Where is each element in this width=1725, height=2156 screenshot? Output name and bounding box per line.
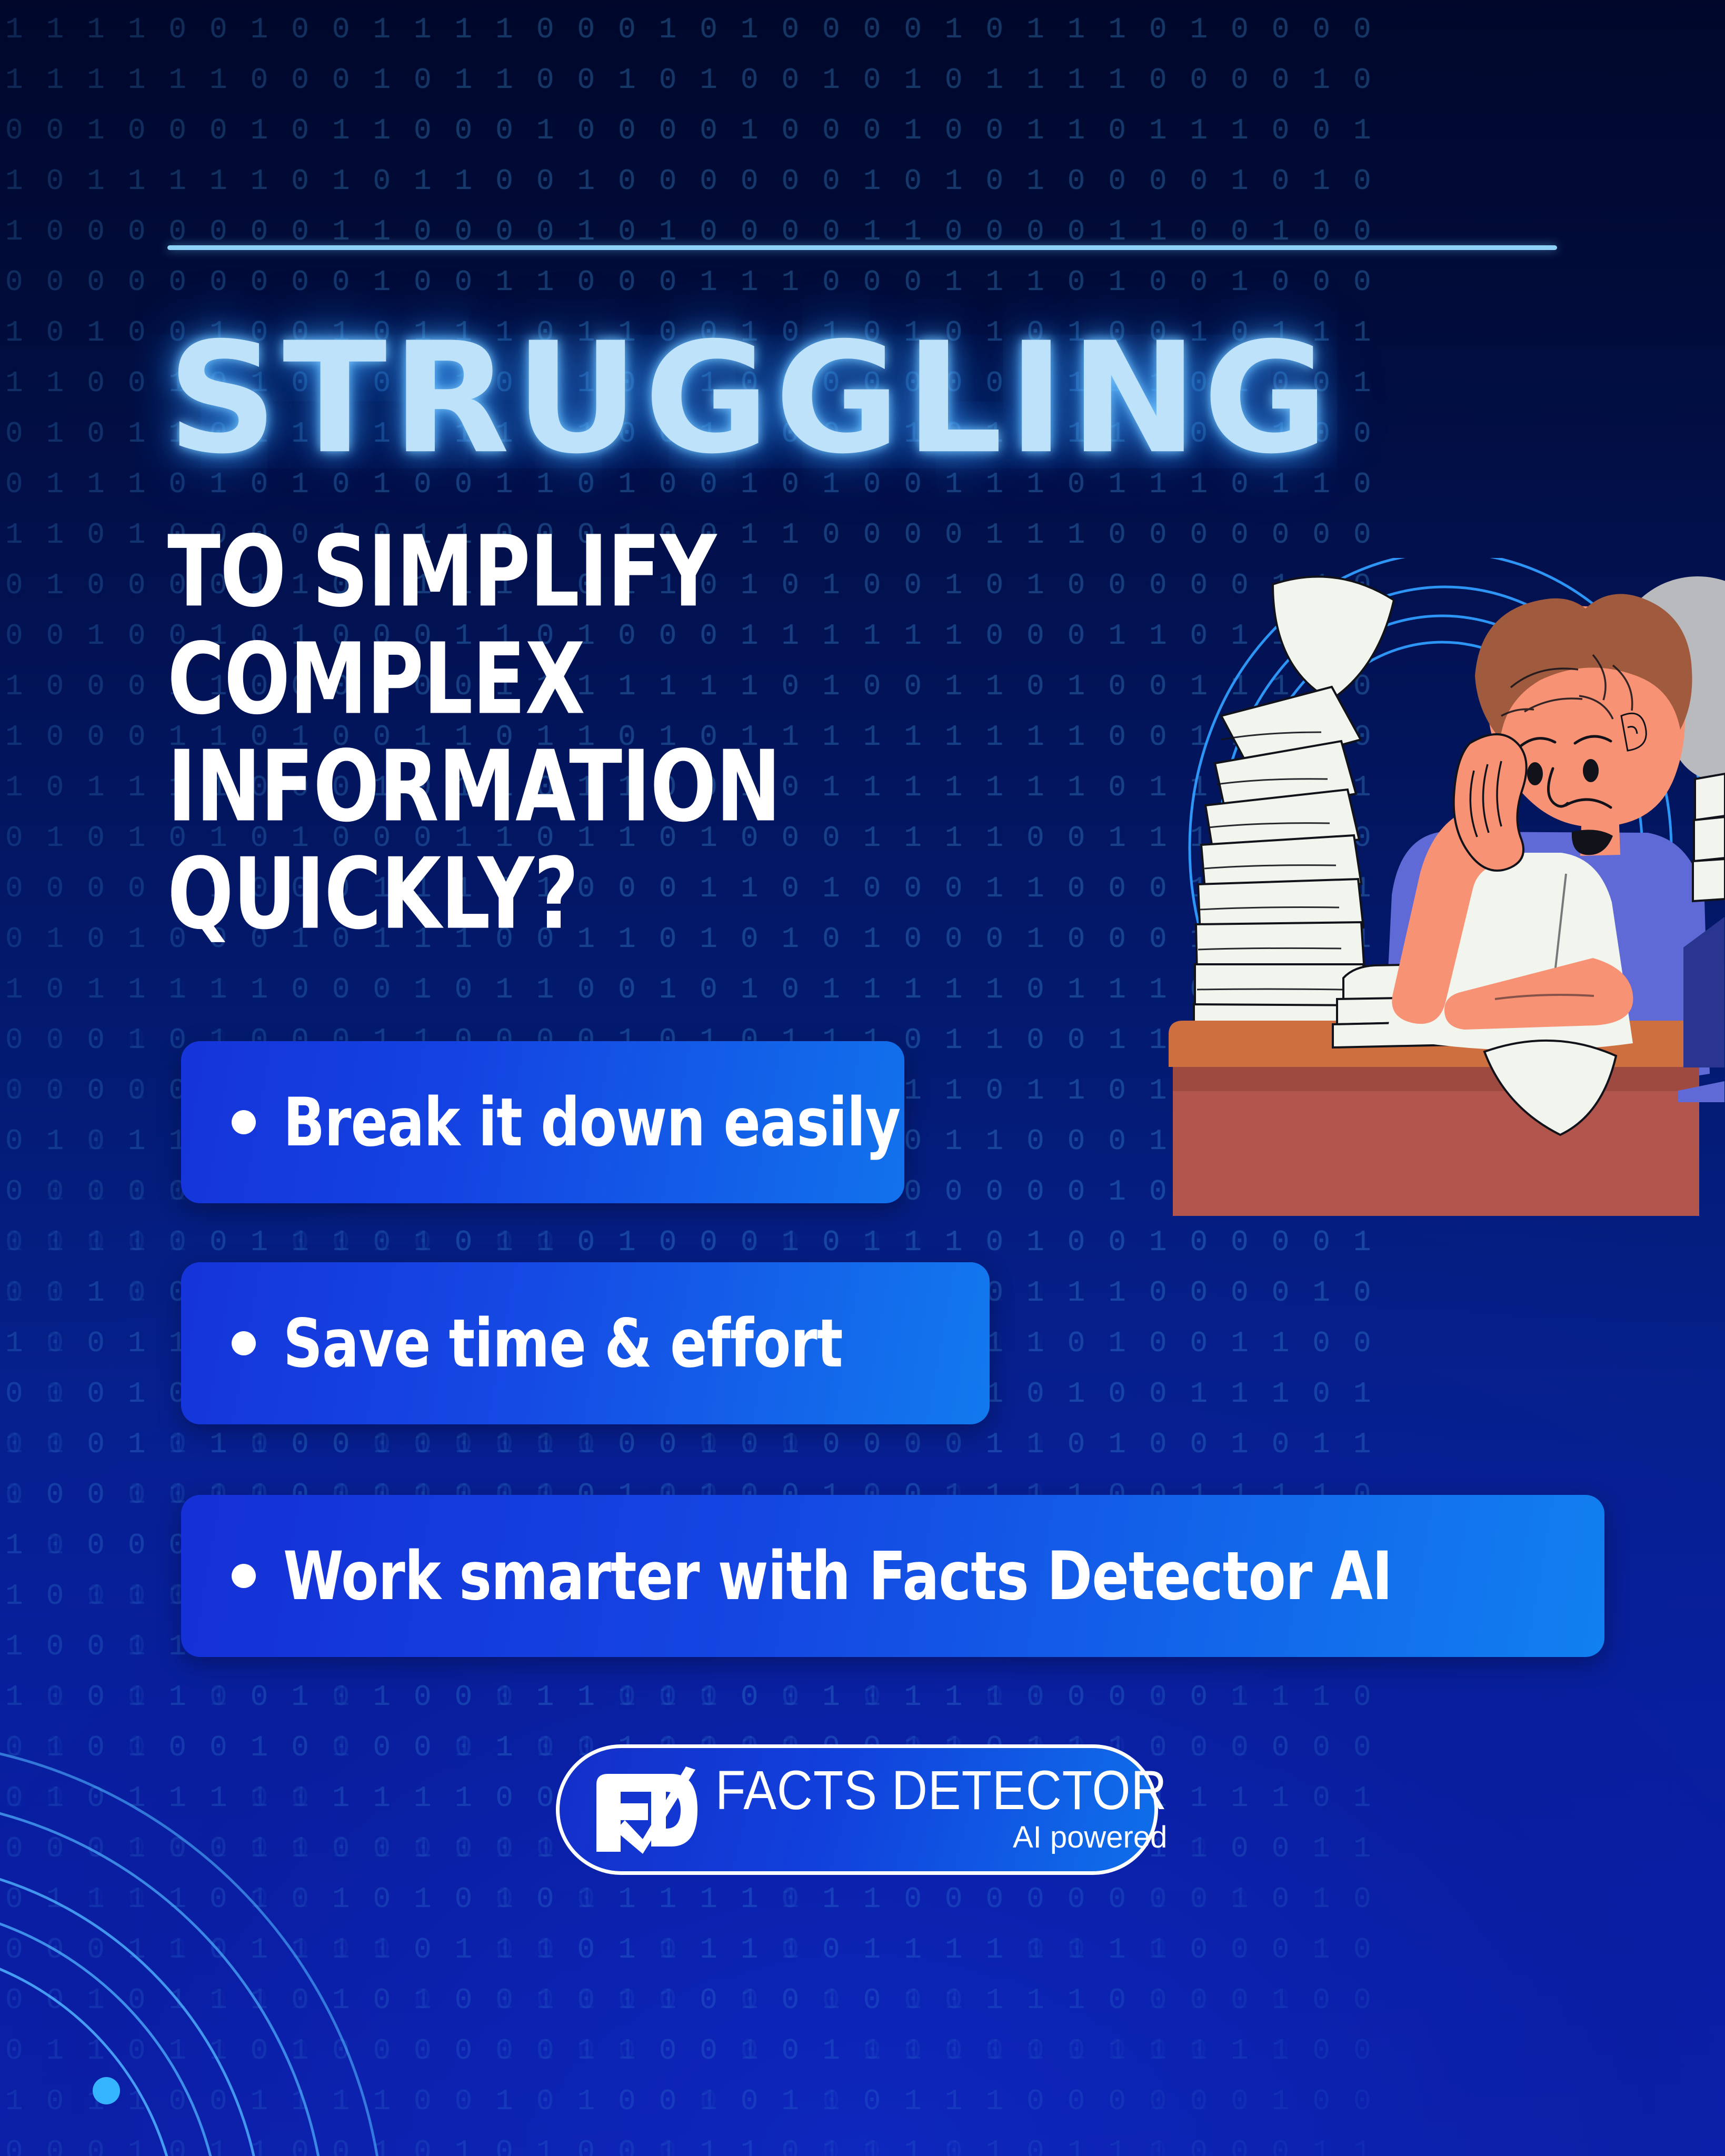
headline-kicker: STRUGGLING [167, 322, 1709, 476]
headline-subhead: TO SIMPLIFY COMPLEX INFORMATION QUICKLY? [167, 518, 1431, 947]
top-divider-rule [167, 245, 1557, 250]
benefit-pill-1[interactable]: Break it down easily [181, 1041, 904, 1203]
brand-tagline: AI powered [1013, 1821, 1167, 1854]
brand-logo-text: FACTS DETECTOR AI powered [715, 1765, 1167, 1854]
benefit-pill-3[interactable]: Work smarter with Facts Detector AI [181, 1495, 1604, 1657]
bullet-dot-icon [232, 1110, 256, 1134]
bullet-dot-icon [232, 1564, 256, 1588]
benefit-pill-2-label: Save time & effort [283, 1308, 842, 1379]
bullet-dot-icon [232, 1331, 256, 1355]
brand-logo-badge[interactable]: FACTS DETECTOR AI powered [556, 1744, 1158, 1875]
benefit-pill-2[interactable]: Save time & effort [181, 1262, 990, 1424]
poster-canvas: 1111001001111000101000010111010000 11111… [0, 0, 1725, 2156]
circuit-arcs-decoration [0, 1609, 516, 2156]
headline-line-3: INFORMATION [167, 733, 1431, 840]
benefit-pill-3-label: Work smarter with Facts Detector AI [283, 1541, 1392, 1611]
fd-monogram-icon [592, 1765, 697, 1854]
headline-block: STRUGGLING TO SIMPLIFY COMPLEX INFORMATI… [167, 322, 1431, 859]
headline-line-1: TO SIMPLIFY [167, 518, 1431, 625]
brand-name: FACTS DETECTOR [715, 1762, 1167, 1818]
headline-line-2: COMPLEX [167, 625, 1431, 733]
benefit-pill-1-label: Break it down easily [283, 1087, 900, 1157]
headline-line-4: QUICKLY? [167, 840, 1431, 947]
